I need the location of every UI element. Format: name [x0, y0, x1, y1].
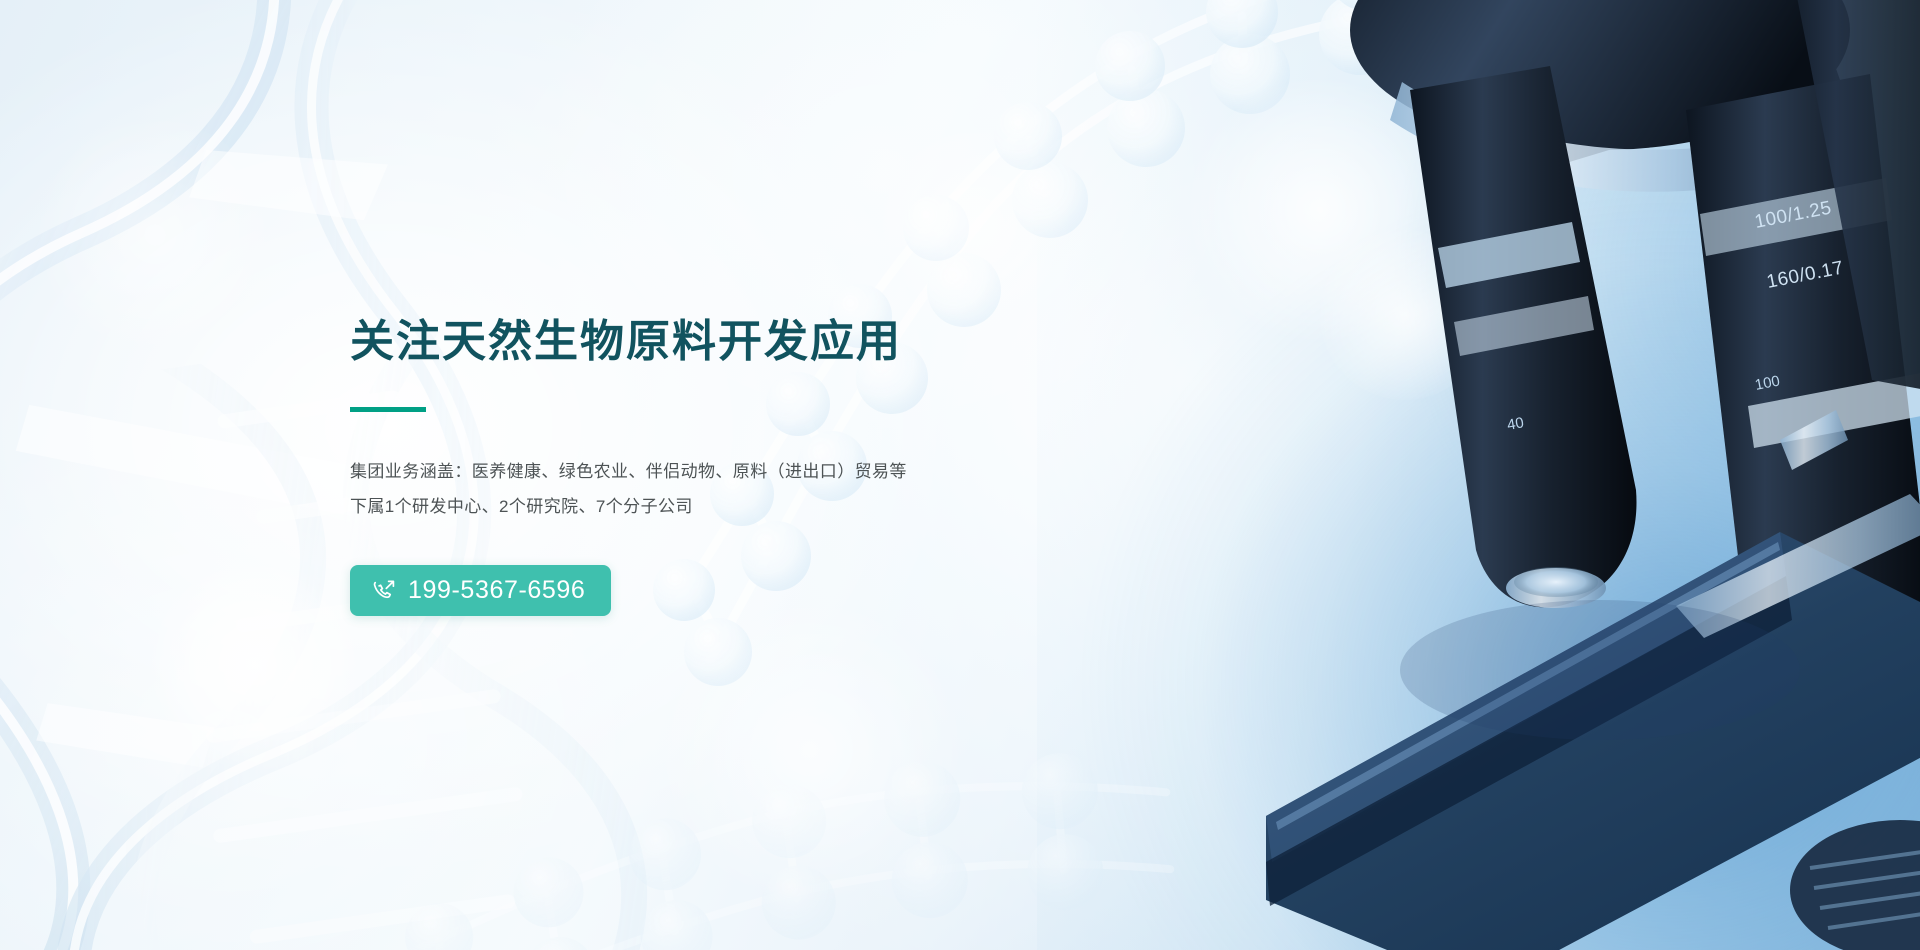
hero-banner: 40 100/1.25 160/0.17 100 — [0, 0, 1920, 950]
page-title: 关注天然生物原料开发应用 — [350, 316, 1110, 369]
outgoing-call-icon — [372, 579, 396, 603]
phone-number-label: 199-5367-6596 — [408, 578, 585, 603]
hero-description-line: 集团业务涵盖：医养健康、绿色农业、伴侣动物、原料（进出口）贸易等 — [350, 454, 1110, 490]
title-divider — [350, 407, 426, 412]
hero-content: 关注天然生物原料开发应用 集团业务涵盖：医养健康、绿色农业、伴侣动物、原料（进出… — [350, 316, 1110, 616]
hero-description: 集团业务涵盖：医养健康、绿色农业、伴侣动物、原料（进出口）贸易等 下属1个研发中… — [350, 454, 1110, 525]
svg-text:40: 40 — [1506, 414, 1525, 434]
hero-description-line: 下属1个研发中心、2个研究院、7个分子公司 — [350, 489, 1110, 525]
microscope-illustration: 40 100/1.25 160/0.17 100 — [1080, 0, 1920, 950]
phone-call-button[interactable]: 199-5367-6596 — [350, 565, 611, 616]
